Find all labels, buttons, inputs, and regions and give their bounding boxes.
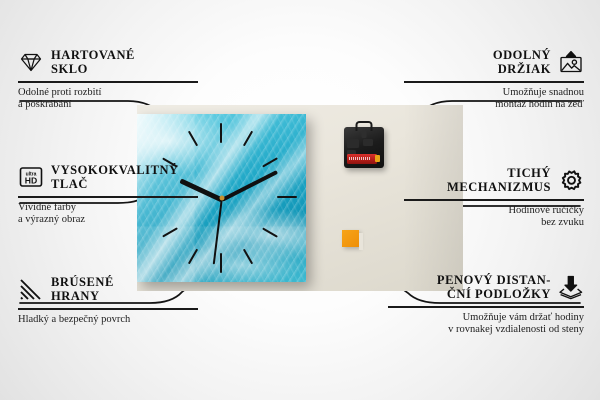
product-infographic: HARTOVANÉ SKLO Odolné proti rozbití a po… (0, 0, 600, 400)
feature-silent-mechanism: TICHÝ MECHANIZMUS Hodinové ručičky bez z… (404, 166, 584, 229)
feature-title: ODOLNÝ DRŽIAK (493, 48, 551, 76)
feature-header: HARTOVANÉ SKLO (18, 48, 198, 76)
diamond-icon (18, 49, 44, 75)
feature-foam-spacers: PENOVÝ DISTAN- ČNÍ PODLOŽKY Umožňuje vám… (388, 273, 584, 336)
feature-description: Hladký a bezpečný povrch (18, 314, 198, 326)
feature-polished-edges: BRÚSENÉ HRANY Hladký a bezpečný povrch (18, 275, 198, 326)
tick-12 (220, 123, 222, 143)
mechanism-block-b (363, 139, 373, 146)
divider (404, 81, 584, 83)
feature-header: PENOVÝ DISTAN- ČNÍ PODLOŽKY (388, 273, 584, 301)
feature-description: Hodinové ručičky bez zvuku (404, 205, 584, 230)
divider (404, 199, 584, 201)
feature-tempered-glass: HARTOVANÉ SKLO Odolné proti rozbití a po… (18, 48, 198, 111)
battery-positive-terminal (375, 155, 380, 162)
battery (347, 154, 377, 164)
clock-hub (219, 196, 224, 201)
tick-6 (220, 253, 222, 273)
ultra-hd-icon: ultra HD (18, 164, 44, 190)
mechanism-block-a (347, 139, 359, 148)
clock-mechanism (344, 127, 384, 168)
feature-title: VYSOKOKVALITNÝ TLAČ (51, 163, 179, 191)
divider (18, 196, 198, 198)
battery-label (349, 157, 371, 160)
foam-spacer-side (359, 233, 363, 250)
mechanism-shaft (362, 131, 367, 138)
feature-header: BRÚSENÉ HRANY (18, 275, 198, 303)
feature-header: TICHÝ MECHANIZMUS (404, 166, 584, 194)
feature-high-quality-print: ultra HD VYSOKOKVALITNÝ TLAČ Vividné far… (18, 163, 198, 226)
press-down-layers-icon (558, 274, 584, 300)
feature-durable-hanger: ODOLNÝ DRŽIAK Umožňuje snadnou montáž ho… (404, 48, 584, 111)
feature-title: TICHÝ MECHANIZMUS (447, 166, 551, 194)
divider (18, 81, 198, 83)
mechanism-hanger-loop (356, 121, 373, 131)
feature-title: PENOVÝ DISTAN- ČNÍ PODLOŽKY (437, 273, 551, 301)
feature-description: Odolné proti rozbití a poškrábání (18, 87, 198, 112)
tick-3 (277, 196, 297, 198)
divider (18, 308, 198, 310)
framed-picture-hanger-icon (558, 49, 584, 75)
foam-spacer-pad (342, 230, 359, 247)
feature-description: Vividné farby a výrazný obraz (18, 202, 198, 227)
feature-header: ultra HD VYSOKOKVALITNÝ TLAČ (18, 163, 198, 191)
feature-header: ODOLNÝ DRŽIAK (404, 48, 584, 76)
feature-description: Umožňuje vám držať hodiny v rovnakej vzd… (388, 312, 584, 337)
svg-text:HD: HD (25, 176, 37, 186)
feature-description: Umožňuje snadnou montáž hodin na zeď (404, 87, 584, 112)
gear-icon (558, 167, 584, 193)
feature-title: HARTOVANÉ SKLO (51, 48, 135, 76)
diagonal-lines-icon (18, 276, 44, 302)
feature-title: BRÚSENÉ HRANY (51, 275, 114, 303)
divider (388, 306, 584, 308)
